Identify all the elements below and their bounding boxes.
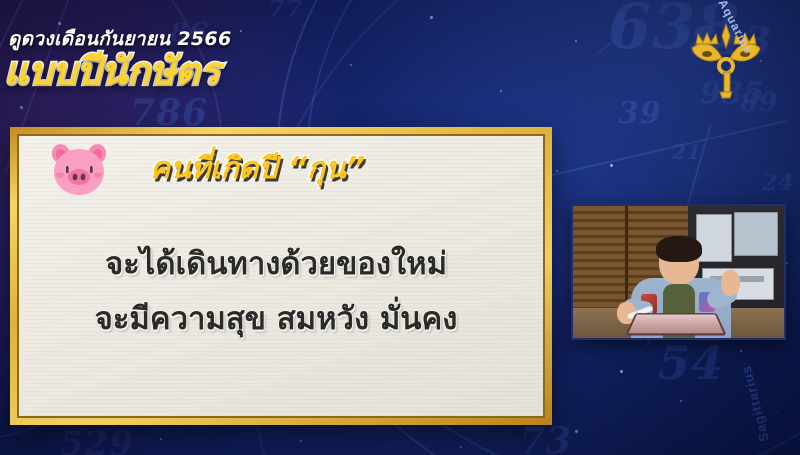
crest-icon [680, 14, 772, 106]
presenter-right-hand [721, 270, 740, 296]
card-text-line-2: จะมีความสุข สมหวัง มั่นคง [0, 293, 552, 343]
screenshot-stage: 638 813 935 39 21 86 89 786 54 529 73 77… [0, 0, 800, 455]
card-title: คนที่เกิดปี “กุน” [150, 145, 365, 192]
page-title: แบบปีนักษัตร [4, 52, 220, 90]
shelf-box [734, 212, 778, 256]
presenter-video-inset[interactable] [571, 204, 786, 340]
aquarius-crest-logo: Aquarius [680, 14, 772, 106]
header: ดูดวงเดือนกันยายน 2566 แบบปีนักษัตร [0, 0, 420, 118]
card-text-line-1: จะได้เดินทางด้วยของใหม่ [0, 238, 552, 288]
presenter-hair [656, 236, 702, 262]
pig-face-icon [48, 140, 110, 198]
tablet-device [625, 313, 727, 335]
